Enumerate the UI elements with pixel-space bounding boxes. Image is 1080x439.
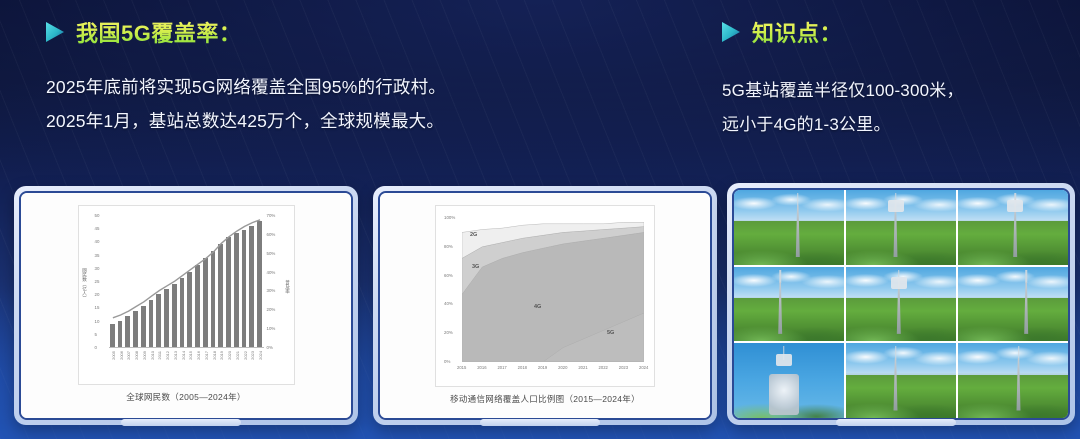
tower-photo-grid xyxy=(734,190,1068,418)
chart1-y2-tick: 0% xyxy=(267,345,273,350)
chart2-x-tick: 2023 xyxy=(619,365,628,370)
chart2-y-tick: 20% xyxy=(444,330,453,335)
card-internet-users[interactable]: 05101520253035404550 网民数（亿人） 0%10%20%30%… xyxy=(14,186,358,425)
chart1-y-tick: 0 xyxy=(95,345,97,350)
chart2-x-tick: 2017 xyxy=(497,365,506,370)
chart2-y-tick: 40% xyxy=(444,301,453,306)
chart1-x-tick: 2015 xyxy=(188,351,193,360)
chart2-y-tick: 80% xyxy=(444,244,453,249)
card-mobile-coverage-screen: 0%20%40%60%80%100% 2G 3G 4G 5G 201520162… xyxy=(378,191,712,420)
right-heading-row: 知识点： xyxy=(722,16,1052,48)
chart1-x-axis xyxy=(109,347,264,348)
chart1-x-tick: 2014 xyxy=(181,351,186,360)
chart1-y-tick: 50 xyxy=(95,213,100,218)
chart1-y-tick: 15 xyxy=(95,305,100,310)
chart2-x-tick: 2018 xyxy=(518,365,527,370)
chart1-x-tick: 2018 xyxy=(212,351,217,360)
card-mobile-coverage[interactable]: 0%20%40%60%80%100% 2G 3G 4G 5G 201520162… xyxy=(373,186,717,425)
tower-photo xyxy=(734,343,844,418)
chart1-y-tick: 20 xyxy=(95,292,100,297)
tower-photo xyxy=(958,267,1068,342)
chart2-label-2g: 2G xyxy=(470,232,477,238)
tower-photo xyxy=(734,190,844,265)
chart2-x-tick: 2015 xyxy=(457,365,466,370)
chart1-x-tick: 2019 xyxy=(219,351,224,360)
chart1-x-tick: 2023 xyxy=(250,351,255,360)
tower-photo xyxy=(846,267,956,342)
chart1-x-tick: 2011 xyxy=(157,351,162,360)
tower-photo xyxy=(958,343,1068,418)
chart1-x-tick: 2020 xyxy=(227,351,232,360)
tower-photo xyxy=(958,190,1068,265)
left-text-column: 我国5G覆盖率： 2025年底前将实现5G网络覆盖全国95%的行政村。 2025… xyxy=(46,16,686,138)
chart1-x-tick: 2012 xyxy=(165,351,170,360)
chart1-x-tick: 2013 xyxy=(173,351,178,360)
card-internet-users-screen: 05101520253035404550 网民数（亿人） 0%10%20%30%… xyxy=(19,191,353,420)
chart1-y-tick: 10 xyxy=(95,319,100,324)
chart1-x-tick: 2006 xyxy=(119,351,124,360)
chart1-plot-area xyxy=(109,216,264,348)
chart2-y-tick: 60% xyxy=(444,273,453,278)
chart1-x-tick: 2021 xyxy=(235,351,240,360)
chart1-x-tick: 2022 xyxy=(243,351,248,360)
chart2-x-axis xyxy=(462,361,644,362)
left-body-text: 2025年底前将实现5G网络覆盖全国95%的行政村。 2025年1月，基站总数达… xyxy=(46,70,686,138)
left-heading-text: 我国5G覆盖率： xyxy=(76,16,241,48)
chart2-plot-area: 2G 3G 4G 5G xyxy=(462,218,644,362)
chart1-y2-tick: 10% xyxy=(267,326,276,331)
right-text-column: 知识点： 5G基站覆盖半径仅100-300米， 远小于4G的1-3公里。 xyxy=(722,16,1052,142)
chart-internet-users-plot: 05101520253035404550 网民数（亿人） 0%10%20%30%… xyxy=(78,205,295,385)
chart1-x-tick: 2010 xyxy=(150,351,155,360)
right-body-line-1: 5G基站覆盖半径仅100-300米， xyxy=(722,74,1052,108)
right-heading-text: 知识点： xyxy=(752,16,842,48)
chart1-x-tick: 2009 xyxy=(142,351,147,360)
chart2-y-tick: 0% xyxy=(444,359,450,364)
card-tower-photos[interactable] xyxy=(727,183,1075,425)
chart1-y-tick: 30 xyxy=(95,266,100,271)
chart2-x-tick: 2020 xyxy=(558,365,567,370)
chart-mobile-coverage: 0%20%40%60%80%100% 2G 3G 4G 5G 201520162… xyxy=(380,193,710,418)
tower-photo xyxy=(734,267,844,342)
triangle-right-icon xyxy=(722,21,740,43)
chart1-y-axis-label: 网民数（亿人） xyxy=(83,268,88,300)
chart1-x-tick: 2024 xyxy=(258,351,263,360)
left-body-line-1: 2025年底前将实现5G网络覆盖全国95%的行政村。 xyxy=(46,70,686,104)
chart1-y-tick: 35 xyxy=(95,253,100,258)
chart1-y2-tick: 50% xyxy=(267,251,276,256)
triangle-right-icon xyxy=(46,21,64,43)
tower-photo xyxy=(846,190,956,265)
card-stand-3 xyxy=(836,419,956,426)
chart2-caption: 移动通信网络覆盖人口比例图（2015—2024年） xyxy=(450,393,640,405)
chart-mobile-coverage-plot: 0%20%40%60%80%100% 2G 3G 4G 5G 201520162… xyxy=(435,205,655,387)
chart1-y2-axis-label: 普及率 xyxy=(286,280,291,294)
right-body-line-2: 远小于4G的1-3公里。 xyxy=(722,108,1052,142)
chart2-x-tick: 2021 xyxy=(578,365,587,370)
chart2-label-3g: 3G xyxy=(472,264,479,270)
card-stand-1 xyxy=(121,419,241,426)
tower-photo xyxy=(846,343,956,418)
chart-internet-users: 05101520253035404550 网民数（亿人） 0%10%20%30%… xyxy=(21,193,351,418)
left-body-line-2: 2025年1月，基站总数达425万个，全球规模最大。 xyxy=(46,104,686,138)
chart1-y-tick: 25 xyxy=(95,279,100,284)
right-body-text: 5G基站覆盖半径仅100-300米， 远小于4G的1-3公里。 xyxy=(722,74,1052,142)
chart2-label-4g: 4G xyxy=(534,304,541,310)
chart1-y2-tick: 40% xyxy=(267,270,276,275)
chart2-label-5g: 5G xyxy=(607,330,614,336)
chart1-y2-tick: 60% xyxy=(267,232,276,237)
chart2-y-tick: 100% xyxy=(444,215,455,220)
chart2-x-tick: 2019 xyxy=(538,365,547,370)
slide-background: 我国5G覆盖率： 2025年底前将实现5G网络覆盖全国95%的行政村。 2025… xyxy=(0,0,1080,439)
chart2-x-tick: 2024 xyxy=(639,365,648,370)
chart2-x-tick: 2016 xyxy=(477,365,486,370)
chart2-area-series xyxy=(462,218,644,362)
card-stand-2 xyxy=(480,419,600,426)
chart1-x-tick: 2005 xyxy=(111,351,116,360)
chart1-x-tick: 2008 xyxy=(134,351,139,360)
chart1-line-series xyxy=(109,216,264,348)
chart1-y2-tick: 70% xyxy=(267,213,276,218)
chart1-x-tick: 2017 xyxy=(204,351,209,360)
chart1-x-tick: 2007 xyxy=(126,351,131,360)
chart1-y2-tick: 30% xyxy=(267,288,276,293)
chart1-y-tick: 5 xyxy=(95,332,97,337)
card-tower-photos-screen xyxy=(732,188,1070,420)
chart1-y-tick: 45 xyxy=(95,226,100,231)
chart1-x-tick: 2016 xyxy=(196,351,201,360)
chart2-x-tick: 2022 xyxy=(599,365,608,370)
left-heading-row: 我国5G覆盖率： xyxy=(46,16,686,48)
chart1-caption: 全球网民数（2005—2024年） xyxy=(126,391,245,403)
chart1-y-tick: 40 xyxy=(95,239,100,244)
chart1-y2-tick: 20% xyxy=(267,307,276,312)
